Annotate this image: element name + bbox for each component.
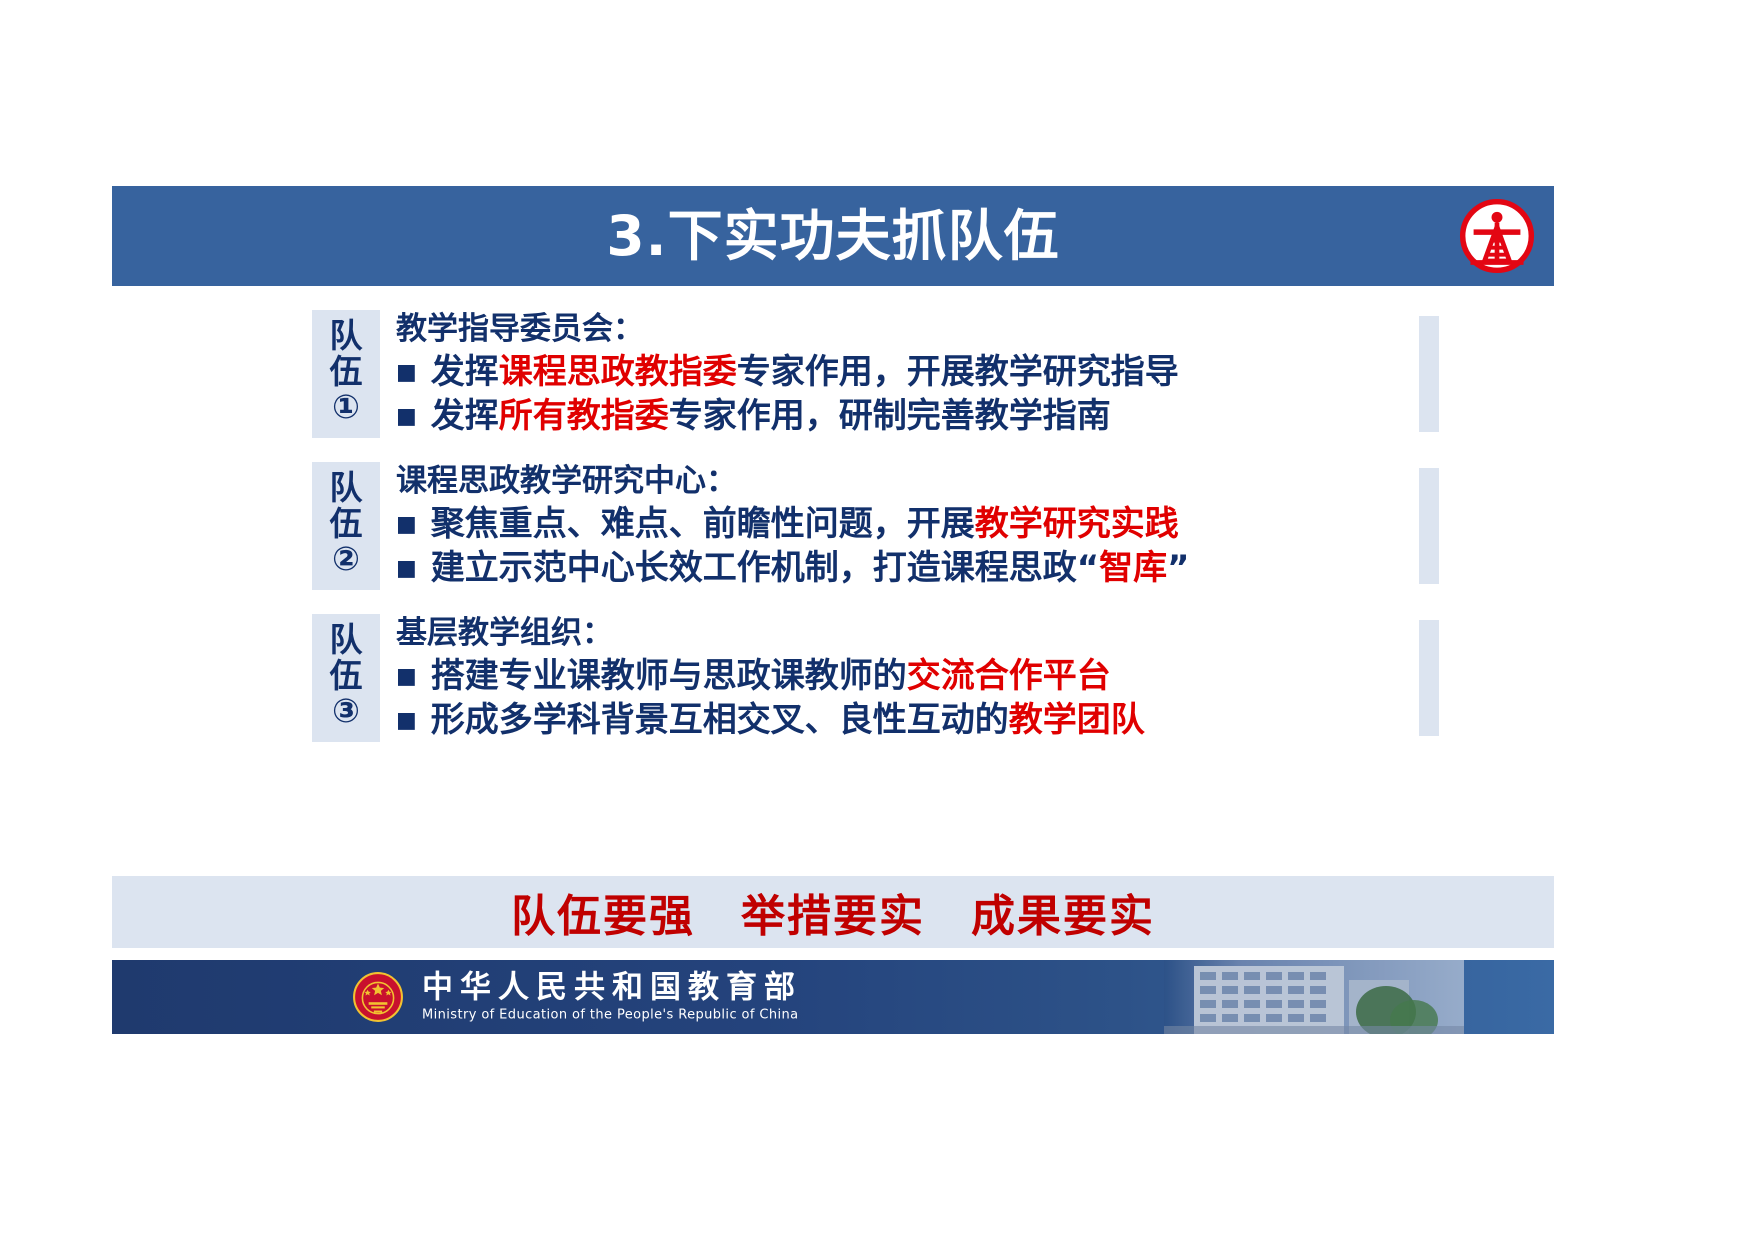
block-heading-1: 教学指导委员会： <box>396 310 1554 350</box>
block-tag-line-3: ③ <box>312 693 380 729</box>
bullet-text-plain: 聚焦重点、难点、前瞻性问题，开展 <box>431 504 975 544</box>
bullet-text-plain: 搭建专业课教师与思政课教师的 <box>431 656 907 696</box>
block-tag-1: 队 伍 ① <box>312 310 380 438</box>
block-tag-line-2: 伍 <box>312 354 380 390</box>
slogan-part-3: 成果要实 <box>971 891 1155 942</box>
title-banner: 3.下实功夫抓队伍 <box>112 186 1554 286</box>
block-rail-2 <box>1419 468 1439 584</box>
block-tag-line-1: 队 <box>312 622 380 658</box>
content-block-3: 队 伍 ③ 基层教学组织： ■ 搭建专业课教师与思政课教师的交流合作平台 ■ 形… <box>112 614 1554 742</box>
bullet-square-icon: ■ <box>396 514 417 536</box>
block-tag-line-3: ① <box>312 389 380 425</box>
bullet-text: 建立示范中心长效工作机制，打造课程思政“智库” <box>431 546 1190 590</box>
bullet-text-highlight: 所有教指委 <box>499 396 669 436</box>
block-body-1: 教学指导委员会： ■ 发挥课程思政教指委专家作用，开展教学研究指导 ■ 发挥所有… <box>380 310 1554 438</box>
bullet-square-icon: ■ <box>396 406 417 428</box>
bullet-square-icon: ■ <box>396 666 417 688</box>
bullet-square-icon: ■ <box>396 710 417 732</box>
footer-title-en: Ministry of Education of the People's Re… <box>422 1008 802 1024</box>
bullet-text-plain: 形成多学科背景互相交叉、良性互动的 <box>431 700 1009 740</box>
bullet-item: ■ 搭建专业课教师与思政课教师的交流合作平台 <box>396 654 1554 698</box>
slide-canvas: 3.下实功夫抓队伍 队 伍 ① 教学指导委员会： <box>0 0 1755 1241</box>
block-heading-2: 课程思政教学研究中心： <box>396 462 1554 502</box>
block-body-2: 课程思政教学研究中心： ■ 聚焦重点、难点、前瞻性问题，开展教学研究实践 ■ 建… <box>380 462 1554 590</box>
education-tower-logo-icon <box>1458 197 1536 275</box>
block-tag-line-2: 伍 <box>312 506 380 542</box>
bullet-text-highlight: 教学研究实践 <box>975 504 1179 544</box>
bullet-text-plain: 发挥 <box>431 396 499 436</box>
bullet-text-highlight: 课程思政教指委 <box>499 352 737 392</box>
block-tag-line-1: 队 <box>312 318 380 354</box>
block-tag-2: 队 伍 ② <box>312 462 380 590</box>
bullet-text-plain: 专家作用，开展教学研究指导 <box>737 352 1179 392</box>
block-rail-1 <box>1419 316 1439 432</box>
slogan-text: 队伍要强举措要实成果要实 <box>511 880 1155 944</box>
building-photo <box>1164 960 1464 1034</box>
bullet-square-icon: ■ <box>396 362 417 384</box>
bullet-square-icon: ■ <box>396 558 417 580</box>
footer-title-cn: 中华人民共和国教育部 <box>422 971 802 1005</box>
bullet-text: 发挥所有教指委专家作用，研制完善教学指南 <box>431 394 1111 438</box>
bullet-text: 搭建专业课教师与思政课教师的交流合作平台 <box>431 654 1111 698</box>
block-heading-3: 基层教学组织： <box>396 614 1554 654</box>
block-tag-line-2: 伍 <box>312 658 380 694</box>
content-area: 队 伍 ① 教学指导委员会： ■ 发挥课程思政教指委专家作用，开展教学研究指导 … <box>112 310 1554 766</box>
bullet-item: ■ 形成多学科背景互相交叉、良性互动的教学团队 <box>396 698 1554 742</box>
bullet-text: 发挥课程思政教指委专家作用，开展教学研究指导 <box>431 350 1179 394</box>
bullet-text-plain: ” <box>1167 548 1189 588</box>
content-block-1: 队 伍 ① 教学指导委员会： ■ 发挥课程思政教指委专家作用，开展教学研究指导 … <box>112 310 1554 438</box>
bullet-item: ■ 聚焦重点、难点、前瞻性问题，开展教学研究实践 <box>396 502 1554 546</box>
block-tag-3: 队 伍 ③ <box>312 614 380 742</box>
block-tag-line-1: 队 <box>312 470 380 506</box>
bullet-item: ■ 建立示范中心长效工作机制，打造课程思政“智库” <box>396 546 1554 590</box>
bullet-text: 形成多学科背景互相交叉、良性互动的教学团队 <box>431 698 1145 742</box>
block-rail-3 <box>1419 620 1439 736</box>
block-tag-line-3: ② <box>312 541 380 577</box>
bullet-item: ■ 发挥所有教指委专家作用，研制完善教学指南 <box>396 394 1554 438</box>
footer-text-group: 中华人民共和国教育部 Ministry of Education of the … <box>422 971 802 1024</box>
bullet-text-plain: 发挥 <box>431 352 499 392</box>
page-title: 3.下实功夫抓队伍 <box>606 209 1059 264</box>
bullet-text-highlight: 智库 <box>1099 548 1167 588</box>
slogan-bar: 队伍要强举措要实成果要实 <box>112 876 1554 948</box>
footer-banner: 中华人民共和国教育部 Ministry of Education of the … <box>112 960 1554 1034</box>
bullet-item: ■ 发挥课程思政教指委专家作用，开展教学研究指导 <box>396 350 1554 394</box>
national-emblem-icon <box>352 971 404 1023</box>
bullet-text: 聚焦重点、难点、前瞻性问题，开展教学研究实践 <box>431 502 1179 546</box>
block-body-3: 基层教学组织： ■ 搭建专业课教师与思政课教师的交流合作平台 ■ 形成多学科背景… <box>380 614 1554 742</box>
bullet-text-highlight: 教学团队 <box>1009 700 1145 740</box>
bullet-text-plain: 专家作用，研制完善教学指南 <box>669 396 1111 436</box>
content-block-2: 队 伍 ② 课程思政教学研究中心： ■ 聚焦重点、难点、前瞻性问题，开展教学研究… <box>112 462 1554 590</box>
bullet-text-plain: 建立示范中心长效工作机制，打造课程思政“ <box>431 548 1099 588</box>
slogan-part-2: 举措要实 <box>741 891 925 942</box>
bullet-text-highlight: 交流合作平台 <box>907 656 1111 696</box>
slogan-part-1: 队伍要强 <box>511 891 695 942</box>
